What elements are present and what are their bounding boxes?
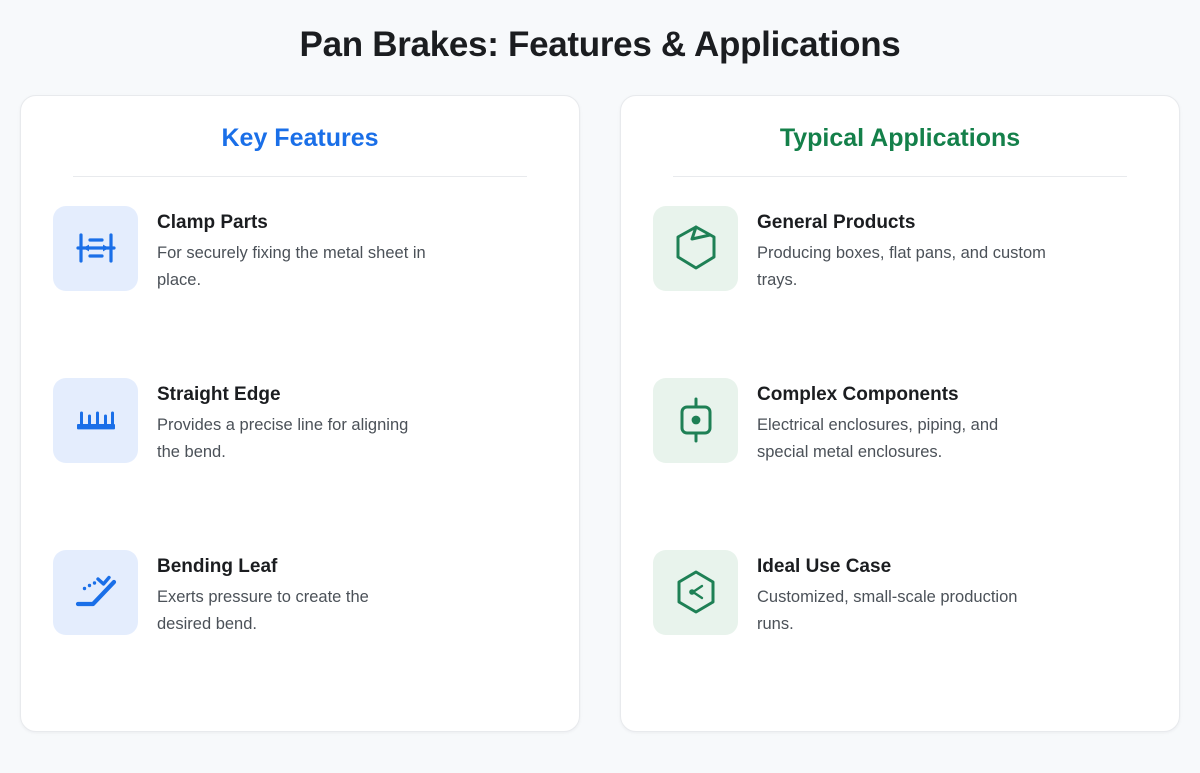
list-item-text: Clamp Parts For securely fixing the meta… — [157, 206, 427, 294]
list-item[interactable]: Straight Edge Provides a precise line fo… — [53, 378, 547, 466]
bend-arrow-icon — [73, 569, 119, 615]
box-package-icon-tile — [653, 206, 738, 291]
list-item-text: Ideal Use Case Customized, small-scale p… — [757, 550, 1047, 638]
list-item-description: For securely fixing the metal sheet in p… — [157, 240, 427, 293]
enclosure-component-icon-tile — [653, 378, 738, 463]
bend-arrow-icon-tile — [53, 550, 138, 635]
application-list: General Products Producing boxes, flat p… — [653, 177, 1147, 638]
clamp-icon-tile — [53, 206, 138, 291]
list-item-title: Ideal Use Case — [757, 554, 1047, 580]
clamp-icon — [73, 225, 119, 271]
list-item-description: Producing boxes, flat pans, and custom t… — [757, 240, 1047, 293]
ruler-icon — [73, 397, 119, 443]
list-item[interactable]: Clamp Parts For securely fixing the meta… — [53, 206, 547, 294]
list-item-title: Bending Leaf — [157, 554, 427, 580]
list-item-description: Customized, small-scale production runs. — [757, 584, 1047, 637]
list-item-text: Complex Components Electrical enclosures… — [757, 378, 1047, 466]
list-item-title: Complex Components — [757, 382, 1047, 408]
card-typical-applications: Typical Applications General Products — [620, 95, 1180, 732]
box-package-icon — [671, 223, 721, 273]
list-item-text: General Products Producing boxes, flat p… — [757, 206, 1047, 294]
cards-container: Key Features — [0, 66, 1200, 732]
card-heading-key-features: Key Features — [53, 122, 547, 155]
card-heading-typical-applications: Typical Applications — [653, 122, 1147, 155]
list-item-title: Clamp Parts — [157, 210, 427, 236]
ruler-icon-tile — [53, 378, 138, 463]
hexagon-share-icon-tile — [653, 550, 738, 635]
list-item-title: General Products — [757, 210, 1047, 236]
list-item-description: Provides a precise line for aligning the… — [157, 412, 427, 465]
page-root: Pan Brakes: Features & Applications Key … — [0, 0, 1200, 773]
card-key-features: Key Features — [20, 95, 580, 732]
list-item-description: Electrical enclosures, piping, and speci… — [757, 412, 1047, 465]
feature-list: Clamp Parts For securely fixing the meta… — [53, 177, 547, 638]
enclosure-component-icon — [671, 395, 721, 445]
list-item-text: Bending Leaf Exerts pressure to create t… — [157, 550, 427, 638]
list-item[interactable]: Bending Leaf Exerts pressure to create t… — [53, 550, 547, 638]
list-item[interactable]: General Products Producing boxes, flat p… — [653, 206, 1147, 294]
page-title: Pan Brakes: Features & Applications — [0, 0, 1200, 66]
hexagon-share-icon — [671, 567, 721, 617]
list-item-description: Exerts pressure to create the desired be… — [157, 584, 427, 637]
list-item-text: Straight Edge Provides a precise line fo… — [157, 378, 427, 466]
list-item[interactable]: Complex Components Electrical enclosures… — [653, 378, 1147, 466]
list-item-title: Straight Edge — [157, 382, 427, 408]
list-item[interactable]: Ideal Use Case Customized, small-scale p… — [653, 550, 1147, 638]
